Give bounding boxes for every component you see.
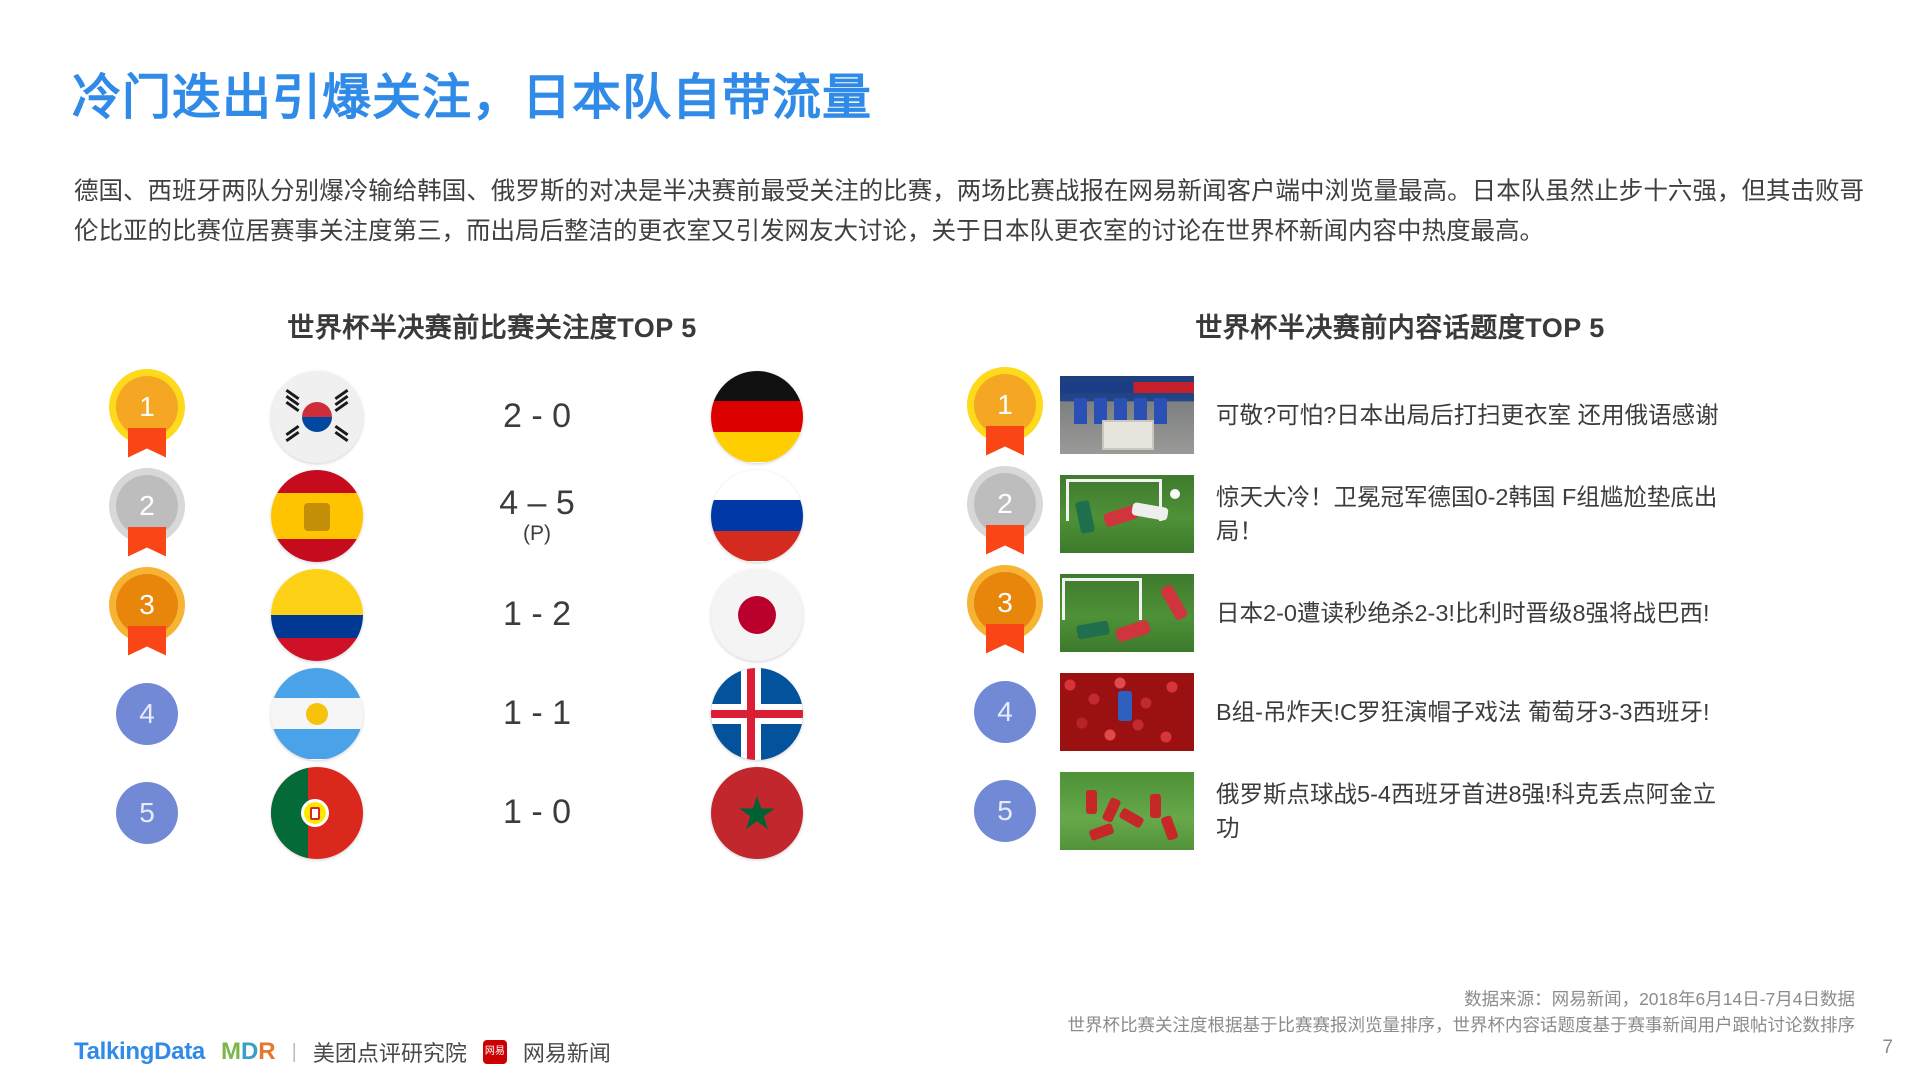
score-value: 1 - 2 (503, 595, 571, 633)
rank-cell: 2 (950, 473, 1060, 555)
away-flag-cell: ★ (662, 767, 852, 859)
list-item[interactable]: 5 俄罗斯点球战5-4西班牙首进8强!科克丢点阿金立功 (950, 761, 1850, 860)
rank-cell: 2 (72, 475, 222, 557)
rank-cell: 1 (72, 376, 222, 458)
content-topic-panel: 世界杯半决赛前内容话题度TOP 5 1 可敬?可怕?日本出局后打扫更衣室 还用俄… (950, 306, 1850, 860)
flag-korea-icon (271, 371, 363, 463)
list-item[interactable]: 2 惊天大冷！卫冕冠军德国0-2韩国 F组尴尬垫底出局！ (950, 464, 1850, 563)
slide-root: 冷门迭出引爆关注，日本队自带流量 德国、西班牙两队分别爆冷输给韩国、俄罗斯的对决… (0, 0, 1921, 1080)
left-panel-title: 世界杯半决赛前比赛关注度TOP 5 (72, 306, 912, 345)
ribbon-icon (128, 428, 166, 458)
rank-cell: 3 (950, 572, 1060, 654)
flag-germany-icon (711, 371, 803, 463)
score-value: 4 – 5 (499, 484, 575, 522)
ribbon-icon (128, 626, 166, 656)
news-title[interactable]: 俄罗斯点球战5-4西班牙首进8强!科克丢点阿金立功 (1216, 777, 1736, 845)
news-thumbnail-pitch (1060, 574, 1194, 652)
score-value: 1 - 0 (503, 793, 571, 831)
news-title[interactable]: 可敬?可怕?日本出局后打扫更衣室 还用俄语感谢 (1216, 398, 1736, 432)
medal-gold-icon: 1 (974, 374, 1036, 456)
table-row: 4 1 - 1 (72, 664, 912, 763)
flag-spain-icon (271, 470, 363, 562)
rank-badge: 4 (974, 681, 1036, 743)
medal-bronze-icon: 3 (974, 572, 1036, 654)
table-row: 3 1 - 2 (72, 565, 912, 664)
news-thumbnail-crowd (1060, 673, 1194, 751)
table-row: 5 1 - 0 ★ (72, 763, 912, 862)
flag-argentina-icon (271, 668, 363, 760)
rank-cell: 1 (950, 374, 1060, 456)
score-note: (P) (412, 523, 662, 545)
flag-russia-icon (711, 470, 803, 562)
match-list: 1 (72, 367, 912, 862)
away-flag-cell (662, 569, 852, 661)
ribbon-icon (128, 527, 166, 557)
netease-name: 网易新闻 (523, 1036, 611, 1068)
source-line-2: 世界杯比赛关注度根据基于比赛赛报浏览量排序，世界杯内容话题度基于赛事新闻用户跟帖… (755, 1012, 1855, 1038)
rank-cell: 3 (72, 574, 222, 656)
home-flag-cell (222, 569, 412, 661)
away-flag-cell (662, 371, 852, 463)
ribbon-icon (986, 426, 1024, 456)
match-attention-panel: 世界杯半决赛前比赛关注度TOP 5 1 (72, 306, 912, 862)
mdr-name: 美团点评研究院 (313, 1036, 467, 1068)
flag-japan-icon (711, 569, 803, 661)
table-row: 1 (72, 367, 912, 466)
table-row: 2 4 – 5 (P) (72, 466, 912, 565)
away-flag-cell (662, 470, 852, 562)
rank-cell: 4 (72, 683, 222, 745)
score-value: 2 - 0 (503, 397, 571, 435)
score-cell: 1 - 1 (412, 696, 662, 732)
score-cell: 4 – 5 (P) (412, 486, 662, 546)
list-item[interactable]: 3 日本2-0遭读秒绝杀2-3!比利时晋级8强将战巴西! (950, 563, 1850, 662)
news-title[interactable]: 日本2-0遭读秒绝杀2-3!比利时晋级8强将战巴西! (1216, 596, 1736, 630)
list-item[interactable]: 4 B组-吊炸天!C罗狂演帽子戏法 葡萄牙3-3西班牙! (950, 662, 1850, 761)
flag-colombia-icon (271, 569, 363, 661)
rank-cell: 5 (72, 782, 222, 844)
medal-gold-icon: 1 (116, 376, 178, 458)
list-item[interactable]: 1 可敬?可怕?日本出局后打扫更衣室 还用俄语感谢 (950, 365, 1850, 464)
score-cell: 1 - 2 (412, 597, 662, 633)
ribbon-icon (986, 525, 1024, 555)
home-flag-cell (222, 371, 412, 463)
rank-cell: 5 (950, 780, 1060, 842)
flag-iceland-icon (711, 668, 803, 760)
rank-badge: 4 (116, 683, 178, 745)
talkingdata-logo: TalkingData (74, 1038, 205, 1066)
medal-bronze-icon: 3 (116, 574, 178, 656)
flag-portugal-icon (271, 767, 363, 859)
news-list: 1 可敬?可怕?日本出局后打扫更衣室 还用俄语感谢 2 (950, 365, 1850, 860)
news-title[interactable]: B组-吊炸天!C罗狂演帽子戏法 葡萄牙3-3西班牙! (1216, 695, 1736, 729)
news-title[interactable]: 惊天大冷！卫冕冠军德国0-2韩国 F组尴尬垫底出局！ (1216, 480, 1736, 548)
medal-silver-icon: 2 (974, 473, 1036, 555)
home-flag-cell (222, 767, 412, 859)
home-flag-cell (222, 470, 412, 562)
rank-badge: 5 (974, 780, 1036, 842)
right-panel-title: 世界杯半决赛前内容话题度TOP 5 (950, 306, 1850, 345)
page-number: 7 (1882, 1037, 1893, 1059)
source-note: 数据来源：网易新闻，2018年6月14日-7月4日数据 世界杯比赛关注度根据基于… (755, 986, 1855, 1038)
footer-logos: TalkingData MDR | 美团点评研究院 网易 网易新闻 (74, 1036, 611, 1068)
rank-cell: 4 (950, 681, 1060, 743)
source-line-1: 数据来源：网易新闻，2018年6月14日-7月4日数据 (755, 986, 1855, 1012)
logo-divider: | (292, 1041, 297, 1064)
score-value: 1 - 1 (503, 694, 571, 732)
mdr-logo: MDR (221, 1038, 276, 1066)
score-cell: 1 - 0 (412, 795, 662, 831)
page-title: 冷门迭出引爆关注，日本队自带流量 (72, 58, 872, 129)
news-thumbnail-locker-room (1060, 376, 1194, 454)
medal-silver-icon: 2 (116, 475, 178, 557)
lede-paragraph: 德国、西班牙两队分别爆冷输给韩国、俄罗斯的对决是半决赛前最受关注的比赛，两场比赛… (74, 172, 1864, 252)
score-cell: 2 - 0 (412, 399, 662, 435)
netease-mark-icon: 网易 (483, 1040, 507, 1064)
flag-morocco-icon: ★ (711, 767, 803, 859)
away-flag-cell (662, 668, 852, 760)
ribbon-icon (986, 624, 1024, 654)
news-thumbnail-goalmouth (1060, 475, 1194, 553)
news-thumbnail-celebration (1060, 772, 1194, 850)
rank-badge: 5 (116, 782, 178, 844)
home-flag-cell (222, 668, 412, 760)
